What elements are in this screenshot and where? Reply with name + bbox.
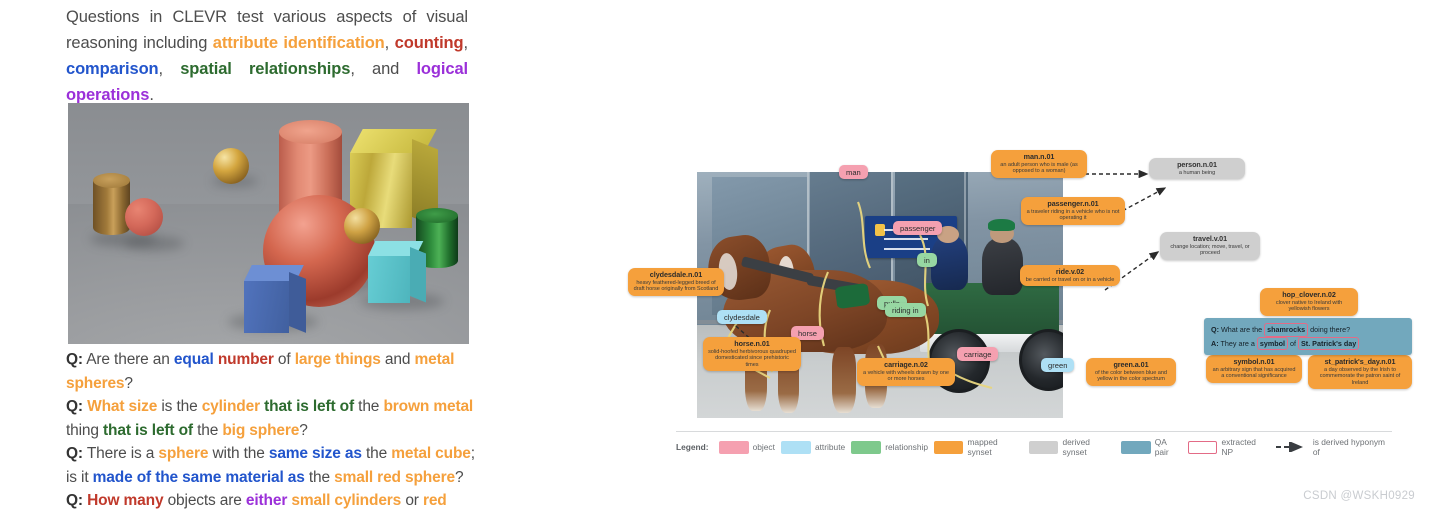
photo-sign-text-line-3 — [884, 248, 930, 250]
q4-part-5: or — [401, 492, 423, 509]
synset-man[interactable]: man.n.01 an adult person who is male (as… — [991, 150, 1087, 178]
synset-gloss: be carried or travel on or in a vehicle — [1025, 277, 1115, 283]
q4-part-small-cylinders: small cylinders — [291, 492, 401, 509]
legend-item-extracted-np: extracted NP — [1188, 437, 1269, 457]
q3-part-same-size-as: same size as — [269, 445, 362, 462]
q2-part-9: the — [193, 422, 222, 439]
object-blue-cube — [244, 265, 306, 333]
legend-label-derived-synset: derived synset — [1062, 437, 1115, 457]
synset-title: symbol.n.01 — [1211, 358, 1297, 366]
scene-graph-panel: man passenger horse carriage clydesdale … — [620, 140, 1420, 480]
qa-answer-pre: They are a — [1220, 339, 1256, 348]
synset-title: man.n.01 — [996, 153, 1082, 161]
q2-part-7: thing — [66, 422, 103, 439]
q1-part-6: ? — [124, 375, 132, 392]
synset-green[interactable]: green.a.01 of the color between blue and… — [1086, 358, 1176, 386]
derived-synset-gloss: a human being — [1154, 170, 1240, 176]
qa-answer-np-symbol: symbol — [1257, 337, 1288, 351]
q2-part-left-of-a: that is left of — [264, 398, 354, 415]
q2-part-5: the — [354, 398, 383, 415]
question-label: Q: — [66, 351, 83, 368]
caption-seg-comparison: comparison — [66, 60, 159, 78]
q2-part-cylinder: cylinder — [202, 398, 260, 415]
caption-seg-10: . — [149, 86, 153, 104]
clevr-caption: Questions in CLEVR test various aspects … — [66, 4, 468, 108]
tag-passenger[interactable]: passenger — [893, 221, 942, 235]
synset-carriage[interactable]: carriage.n.02 a vehicle with wheels draw… — [857, 358, 955, 386]
legend-swatch-relationship — [851, 441, 881, 454]
cylinder-top — [416, 208, 458, 223]
cube-side-face — [410, 247, 426, 302]
legend-item-attribute: attribute — [781, 441, 845, 454]
figure-root: Questions in CLEVR test various aspects … — [0, 0, 1431, 512]
clevr-questions: Q: Are there an equal number of large th… — [66, 348, 478, 512]
synset-horse[interactable]: horse.n.01 solid-hoofed herbivorous quad… — [703, 337, 801, 371]
legend-label-qa-pair: QA pair — [1155, 437, 1182, 457]
dashed-arrow-icon — [1275, 442, 1309, 452]
q1-part-4: and — [381, 351, 415, 368]
clevr-panel: Questions in CLEVR test various aspects … — [66, 4, 476, 509]
cylinder-top — [279, 120, 342, 144]
qa-question-line: Q: What are the shamrocks doing there? — [1211, 323, 1405, 337]
legend-divider — [676, 431, 1392, 432]
caption-seg-4: , — [464, 34, 468, 52]
q1-part-equal-number: equal number — [174, 351, 274, 368]
cube-front-face — [368, 256, 410, 303]
synset-title: ride.v.02 — [1025, 268, 1115, 276]
qa-answer-mid: of — [1288, 339, 1298, 348]
tag-in[interactable]: in — [917, 253, 937, 267]
qa-question-pre: What are the — [1221, 325, 1264, 334]
synset-title: st_patrick's_day.n.01 — [1313, 358, 1407, 366]
legend-label-hyponym-arrow: is derived hyponym of — [1313, 437, 1392, 457]
synset-title: hop_clover.n.02 — [1265, 291, 1353, 299]
synset-title: passenger.n.01 — [1026, 200, 1120, 208]
q3-part-metal-cube: metal cube — [391, 445, 470, 462]
photo-rider-passenger — [982, 238, 1022, 295]
clevr-scene-image — [68, 103, 469, 344]
qa-question-np: shamrocks — [1264, 323, 1308, 337]
synset-gloss: a traveler riding in a vehicle who is no… — [1026, 209, 1120, 222]
legend-label-attribute: attribute — [815, 442, 845, 452]
synset-st-patricks-day[interactable]: st_patrick's_day.n.01 a day observed by … — [1308, 355, 1412, 389]
caption-seg-attribute-identification: attribute identification — [213, 34, 385, 52]
caption-seg-8: , and — [350, 60, 416, 78]
q3-part-8: the — [305, 469, 334, 486]
cylinder-top — [93, 173, 130, 188]
cylinder-body — [93, 181, 130, 235]
derived-synset-title: travel.v.01 — [1165, 235, 1255, 243]
qa-answer-label: A: — [1211, 339, 1219, 348]
question-3: Q: There is a sphere with the same size … — [66, 442, 478, 489]
q4-part-how-many: How many — [87, 492, 163, 509]
object-small-gold-sphere-upper — [213, 148, 249, 184]
q2-part-left-of-b: that is left of — [103, 422, 193, 439]
legend-item-qa-pair: QA pair — [1121, 437, 1182, 457]
legend-item-relationship: relationship — [851, 441, 928, 454]
synset-title: clydesdale.n.01 — [633, 271, 719, 279]
legend-item-derived-synset: derived synset — [1029, 437, 1115, 457]
qa-question-post: doing there? — [1308, 325, 1350, 334]
q3-part-2: with the — [208, 445, 269, 462]
question-2: Q: What size is the cylinder that is lef… — [66, 395, 478, 442]
synset-gloss: of the color between blue and yellow in … — [1091, 370, 1171, 383]
tag-man[interactable]: man — [839, 165, 868, 179]
synset-gloss: heavy feathered-legged breed of draft ho… — [633, 280, 719, 293]
tag-riding-in[interactable]: riding in — [885, 303, 926, 317]
legend-label-mapped-synset: mapped synset — [967, 437, 1023, 457]
cube-side-face — [289, 272, 306, 333]
synset-gloss: solid-hoofed herbivorous quadruped domes… — [708, 349, 796, 368]
question-label: Q: — [66, 445, 83, 462]
synset-title: carriage.n.02 — [862, 361, 950, 369]
q1-part-large-things: large things — [295, 351, 381, 368]
caption-seg-counting: counting — [395, 34, 464, 52]
q1-part-2: of — [274, 351, 295, 368]
q3-part-4: the — [362, 445, 391, 462]
q3-part-0: There is a — [87, 445, 159, 462]
synset-passenger[interactable]: passenger.n.01 a traveler riding in a ve… — [1021, 197, 1125, 225]
tag-clydesdale[interactable]: clydesdale — [717, 310, 767, 324]
q2-part-11: ? — [299, 422, 307, 439]
legend-item-mapped-synset: mapped synset — [934, 437, 1023, 457]
shadow-red-small-sphere — [124, 236, 184, 251]
synset-gloss: a vehicle with wheels drawn by one or mo… — [862, 370, 950, 383]
qa-pair-box[interactable]: Q: What are the shamrocks doing there? A… — [1204, 318, 1412, 355]
tag-green[interactable]: green — [1041, 358, 1074, 372]
derived-synset-title: person.n.01 — [1154, 161, 1240, 169]
q3-part-same-material-as: made of the same material as — [93, 469, 305, 486]
synset-gloss: clover native to Ireland with yellowish … — [1265, 300, 1353, 313]
q3-part-10: ? — [455, 469, 463, 486]
q2-part-what-size: What size — [87, 398, 157, 415]
legend-swatch-attribute — [781, 441, 811, 454]
q4-part-1: objects are — [163, 492, 245, 509]
synset-ride[interactable]: ride.v.02 be carried or travel on or in … — [1020, 265, 1120, 286]
caption-seg-spatial-relationships: spatial relationships — [180, 60, 350, 78]
q2-part-brown-metal: brown metal — [383, 398, 473, 415]
cube-front-face — [244, 281, 289, 333]
object-brown-cylinder — [93, 173, 130, 235]
legend-item-hyponym-arrow: is derived hyponym of — [1275, 437, 1392, 457]
q2-part-1: is the — [157, 398, 201, 415]
synset-gloss: an arbitrary sign that has acquired a co… — [1211, 367, 1297, 380]
q3-part-small-red-sphere: small red sphere — [334, 469, 455, 486]
synset-clydesdale[interactable]: clydesdale.n.01 heavy feathered-legged b… — [628, 268, 724, 296]
legend-title: Legend: — [676, 442, 709, 452]
qa-answer-line: A: They are a symbol of St. Patrick's da… — [1211, 337, 1405, 351]
q2-part-big-sphere: big sphere — [222, 422, 299, 439]
legend-swatch-derived-synset — [1029, 441, 1058, 454]
legend-swatch-qa-pair — [1121, 441, 1150, 454]
caption-seg-6: , — [159, 60, 181, 78]
legend-swatch-object — [719, 441, 749, 454]
synset-gloss: a day observed by the Irish to commemora… — [1313, 367, 1407, 386]
derived-synset-person[interactable]: person.n.01 a human being — [1149, 158, 1245, 179]
photo-rider-passenger-hat — [988, 219, 1015, 231]
synset-symbol[interactable]: symbol.n.01 an arbitrary sign that has a… — [1206, 355, 1302, 383]
legend-swatch-extracted-np — [1188, 441, 1217, 454]
q4-part-red: red — [423, 492, 447, 509]
question-label: Q: — [66, 492, 83, 509]
question-1: Q: Are there an equal number of large th… — [66, 348, 478, 395]
tag-carriage[interactable]: carriage — [957, 347, 998, 361]
q1-part-0: Are there an — [86, 351, 174, 368]
legend-swatch-mapped-synset — [934, 441, 963, 454]
q3-part-sphere: sphere — [158, 445, 208, 462]
caption-seg-2: , — [385, 34, 395, 52]
legend-label-object: object — [753, 442, 775, 452]
qa-answer-np-stpatricks: St. Patrick's day — [1298, 337, 1359, 351]
synset-hop-clover[interactable]: hop_clover.n.02 clover native to Ireland… — [1260, 288, 1358, 316]
legend-label-relationship: relationship — [885, 442, 928, 452]
synset-gloss: an adult person who is male (as opposed … — [996, 162, 1082, 175]
question-4: Q: How many objects are either small cyl… — [66, 489, 478, 512]
synset-title: green.a.01 — [1091, 361, 1171, 369]
legend-item-object: object — [719, 441, 775, 454]
q4-part-either: either — [246, 492, 287, 509]
legend: Legend: object attribute relationship ma… — [676, 433, 1392, 461]
photo-sign-text-line-2 — [884, 238, 928, 240]
object-cyan-cube — [368, 241, 426, 303]
derived-synset-gloss: change location; move, travel, or procee… — [1165, 244, 1255, 257]
photo-horse-leg-3 — [832, 347, 856, 413]
synset-title: horse.n.01 — [708, 340, 796, 348]
derived-synset-travel[interactable]: travel.v.01 change location; move, trave… — [1160, 232, 1260, 260]
legend-label-extracted-np: extracted NP — [1221, 437, 1268, 457]
object-small-red-sphere — [125, 198, 163, 236]
object-small-gold-sphere-lower — [344, 208, 380, 244]
qa-question-label: Q: — [1211, 325, 1219, 334]
question-label: Q: — [66, 398, 83, 415]
watermark: CSDN @WSKH0929 — [1303, 490, 1415, 502]
